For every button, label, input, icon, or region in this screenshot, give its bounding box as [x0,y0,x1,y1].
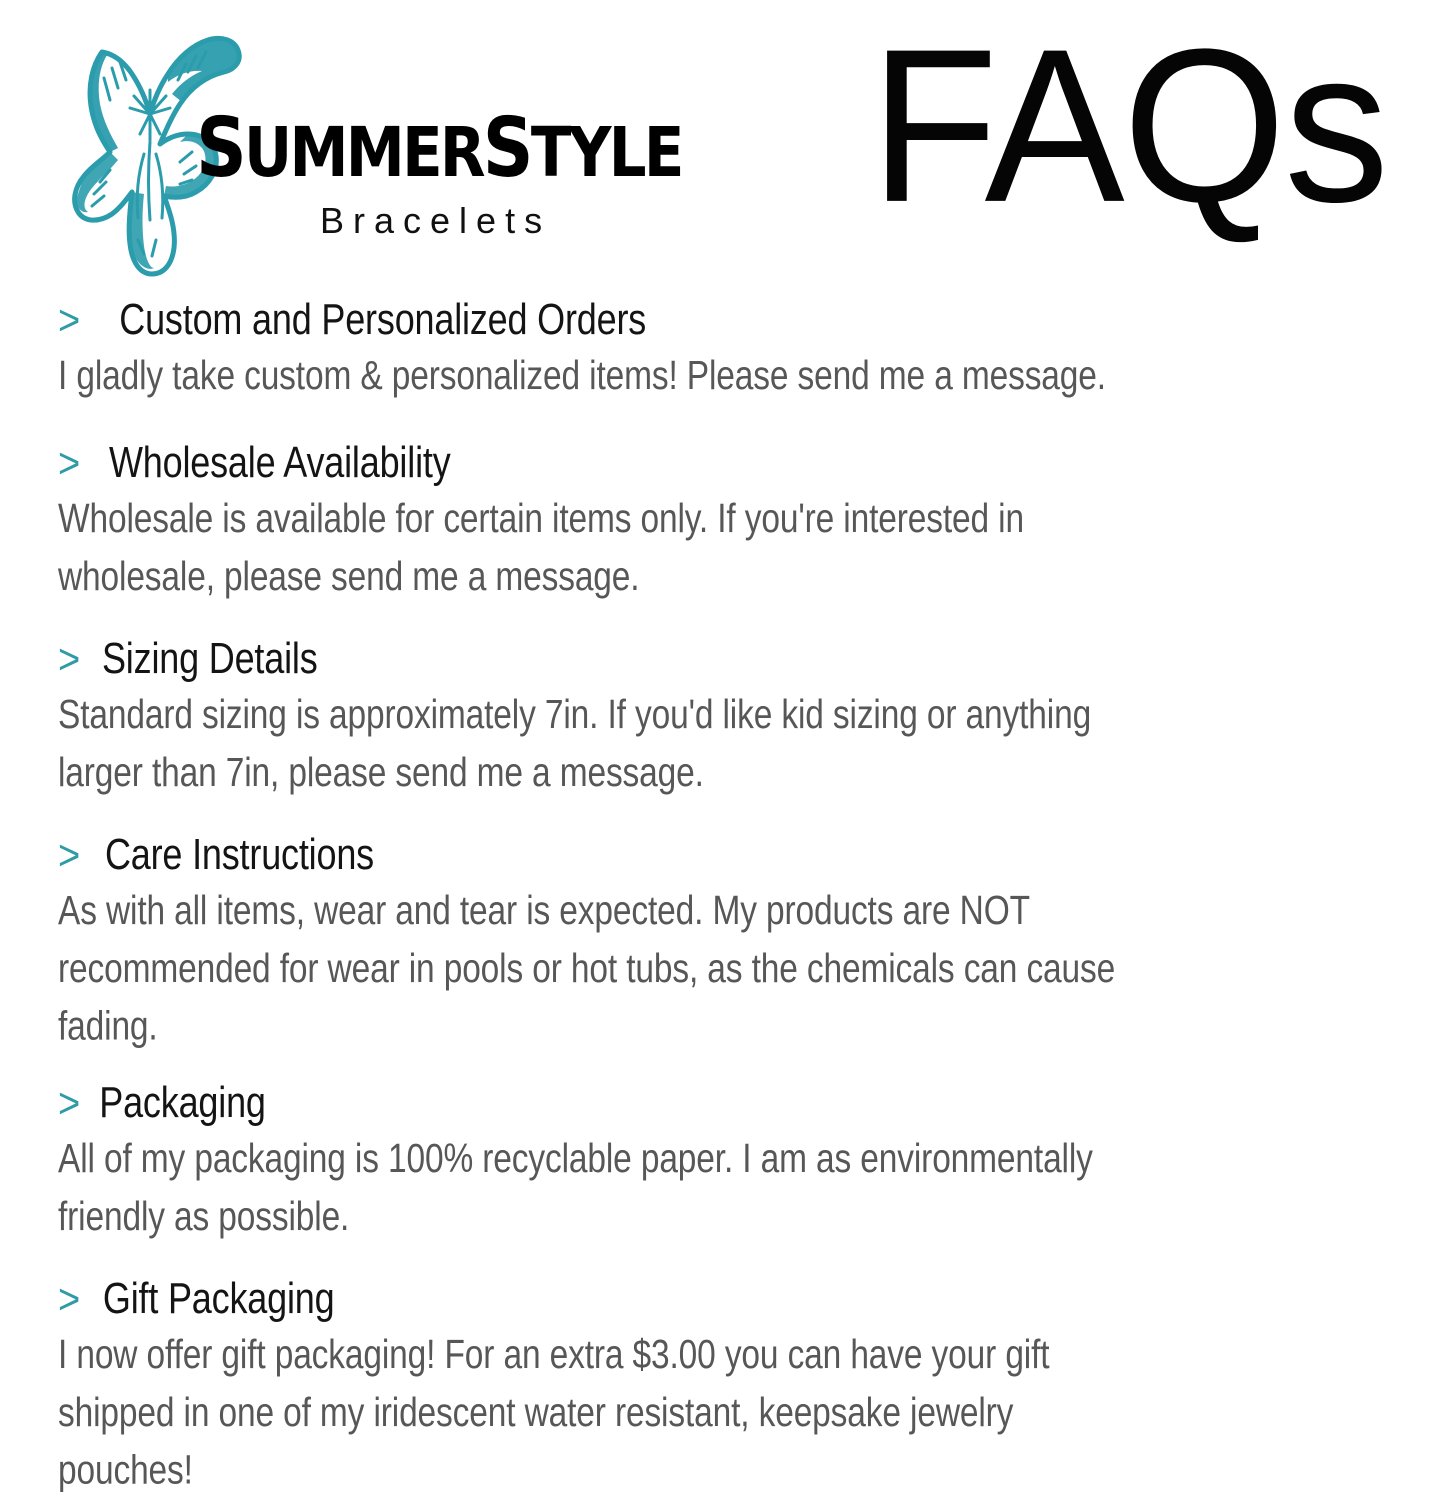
brand-logo: SummerStyle Bracelets [58,18,678,280]
faq-heading-label: Custom and Personalized Orders [119,294,646,347]
faq-answer-text: I gladly take custom & personalized item… [58,347,1106,405]
faq-heading[interactable]: > Care Instructions [58,831,1273,880]
brand-name-tyle: tyle [531,113,682,193]
faq-answer-text: All of my packaging is 100% recyclable p… [58,1130,1130,1246]
chevron-right-icon: > [58,639,80,682]
brand-name-ummer: ummer [244,113,483,193]
faq-heading-label: Sizing Details [102,633,318,686]
faq-heading-label: Care Instructions [105,829,374,882]
faq-answer: As with all items, wear and tear is expe… [58,882,1243,1040]
faq-item: > Sizing Details Standard sizing is appr… [58,635,1273,791]
brand-name: SummerStyle [196,110,600,188]
faq-item: > Wholesale Availability Wholesale is av… [58,439,1273,595]
page-title: FAQs [870,26,1387,227]
faq-heading[interactable]: > Gift Packaging [58,1275,1273,1324]
chevron-right-icon: > [58,1279,80,1322]
faq-answer: All of my packaging is 100% recyclable p… [58,1130,1243,1235]
faq-list: > Custom and Personalized Orders I gladl… [58,296,1273,1484]
faq-heading[interactable]: > Packaging [58,1079,1273,1128]
faq-answer: I now offer gift packaging! For an extra… [58,1326,1243,1484]
brand-name-s2: S [483,101,531,196]
faq-item: > Care Instructions As with all items, w… [58,831,1273,1039]
faq-item: > Packaging All of my packaging is 100% … [58,1079,1273,1235]
chevron-right-icon: > [58,835,80,878]
faq-answer: I gladly take custom & personalized item… [58,347,1243,400]
faq-answer-text: As with all items, wear and tear is expe… [58,882,1130,1055]
page-header: SummerStyle Bracelets FAQs [0,0,1445,288]
faq-heading[interactable]: > Sizing Details [58,635,1273,684]
brand-wordmark: SummerStyle Bracelets [196,110,666,242]
faq-item: > Custom and Personalized Orders I gladl… [58,296,1273,399]
faq-answer: Wholesale is available for certain items… [58,490,1243,595]
faq-answer: Standard sizing is approximately 7in. If… [58,686,1243,791]
faq-answer-text: Standard sizing is approximately 7in. If… [58,686,1130,802]
faq-heading-label: Packaging [99,1077,266,1130]
faq-answer-text: I now offer gift packaging! For an extra… [58,1326,1130,1499]
faq-heading[interactable]: > Wholesale Availability [58,439,1273,488]
faq-heading-label: Gift Packaging [103,1273,335,1326]
chevron-right-icon: > [58,300,80,343]
chevron-right-icon: > [58,443,80,486]
faq-heading-label: Wholesale Availability [109,437,451,490]
brand-subtitle: Bracelets [320,200,666,242]
faq-answer-text: Wholesale is available for certain items… [58,490,1130,606]
chevron-right-icon: > [58,1083,80,1126]
faq-heading[interactable]: > Custom and Personalized Orders [58,296,1273,345]
brand-name-s1: S [196,101,244,196]
faq-item: > Gift Packaging I now offer gift packag… [58,1275,1273,1483]
